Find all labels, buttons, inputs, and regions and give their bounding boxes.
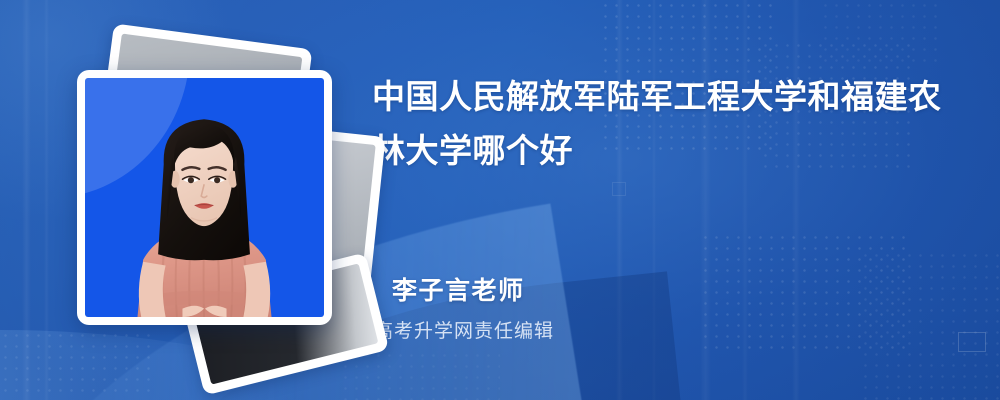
author-role: 高考升学网责任编辑 bbox=[374, 319, 554, 345]
dot-grid-decor bbox=[860, 250, 1000, 400]
author-portrait bbox=[85, 78, 324, 317]
page-title: 中国人民解放军陆军工程大学和福建农林大学哪个好 bbox=[372, 70, 942, 178]
photo-stack bbox=[40, 24, 360, 374]
author-photo-frame bbox=[77, 70, 332, 325]
article-hero-banner: 中国人民解放军陆军工程大学和福建农林大学哪个好 李子言老师 高考升学网责任编辑 bbox=[0, 0, 1000, 400]
tech-square-decor bbox=[958, 332, 986, 352]
author-byline: 李子言老师 高考升学网责任编辑 bbox=[392, 276, 525, 306]
dot-grid-decor bbox=[820, 0, 940, 70]
tech-square-decor bbox=[612, 182, 626, 196]
headline-block: 中国人民解放军陆军工程大学和福建农林大学哪个好 bbox=[372, 70, 972, 178]
author-name: 李子言老师 bbox=[392, 276, 525, 306]
